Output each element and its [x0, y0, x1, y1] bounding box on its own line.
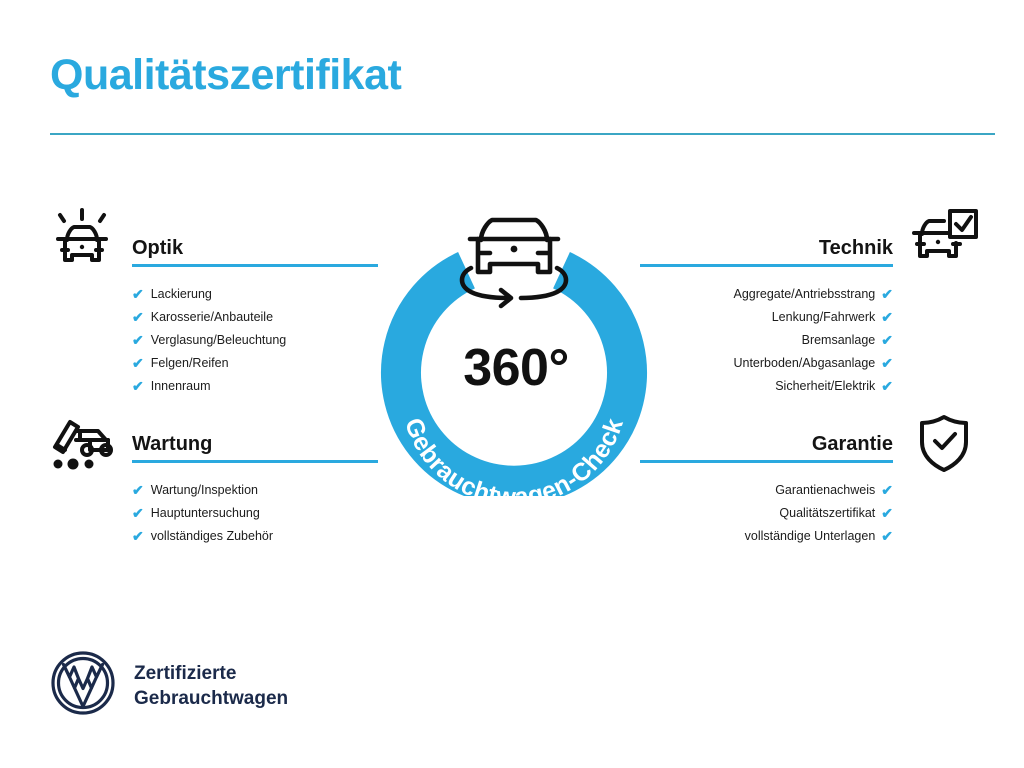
footer-line-2: Gebrauchtwagen — [134, 686, 288, 711]
list-item: ✔Hauptuntersuchung — [132, 502, 378, 525]
list-item-label: Wartung/Inspektion — [151, 479, 258, 502]
badge-360-gebrauchtwagen-check: Gebrauchtwagen-Check 360° — [378, 196, 650, 496]
check-icon: ✔ — [132, 310, 144, 324]
section-heading-optik: Optik — [132, 238, 378, 264]
checklist-wartung: ✔Wartung/Inspektion ✔Hauptuntersuchung ✔… — [132, 479, 378, 548]
footer-text: Zertifizierte Gebrauchtwagen — [134, 661, 288, 711]
footer-line-1: Zertifizierte — [134, 661, 288, 686]
list-item: ✔Karosserie/Anbauteile — [132, 306, 378, 329]
list-item: ✔Felgen/Reifen — [132, 352, 378, 375]
list-item-label: Innenraum — [151, 375, 211, 398]
checklist-optik: ✔Lackierung ✔Karosserie/Anbauteile ✔Verg… — [132, 283, 378, 398]
check-icon: ✔ — [132, 483, 144, 497]
vw-logo — [50, 650, 116, 721]
shield-check-icon — [917, 412, 971, 479]
certificate-page: Qualitätszertifikat — [0, 0, 1024, 768]
list-item: vollständige Unterlagen✔ — [640, 525, 893, 548]
list-item: Bremsanlage✔ — [640, 329, 893, 352]
check-icon: ✔ — [132, 333, 144, 347]
checklist-garantie: Garantienachweis✔ Qualitätszertifikat✔ v… — [640, 479, 893, 548]
check-icon: ✔ — [881, 310, 893, 324]
list-item-label: Garantienachweis — [775, 479, 875, 502]
list-item-label: Sicherheit/Elektrik — [775, 375, 875, 398]
list-item: ✔Wartung/Inspektion — [132, 479, 378, 502]
section-technik: Technik Aggregate/Antriebsstrang✔ Lenkun… — [640, 238, 893, 398]
list-item-label: Unterboden/Abgasanlage — [733, 352, 875, 375]
list-item-label: vollständiges Zubehör — [151, 525, 273, 548]
list-item: ✔Verglasung/Beleuchtung — [132, 329, 378, 352]
check-icon: ✔ — [881, 379, 893, 393]
check-icon: ✔ — [881, 287, 893, 301]
check-icon: ✔ — [881, 506, 893, 520]
car-shine-icon — [46, 202, 118, 275]
check-icon: ✔ — [881, 483, 893, 497]
list-item: ✔Innenraum — [132, 375, 378, 398]
list-item: Unterboden/Abgasanlage✔ — [640, 352, 893, 375]
section-heading-technik: Technik — [640, 238, 893, 264]
checklist-technik: Aggregate/Antriebsstrang✔ Lenkung/Fahrwe… — [640, 283, 893, 398]
list-item-label: vollständige Unterlagen — [745, 525, 876, 548]
page-title: Qualitätszertifikat — [50, 52, 401, 99]
list-item-label: Felgen/Reifen — [151, 352, 229, 375]
list-item-label: Karosserie/Anbauteile — [151, 306, 273, 329]
list-item-label: Verglasung/Beleuchtung — [151, 329, 287, 352]
section-optik: Optik ✔Lackierung ✔Karosserie/Anbauteile… — [132, 238, 378, 398]
section-divider-optik — [132, 264, 378, 267]
list-item-label: Qualitätszertifikat — [779, 502, 875, 525]
section-divider-garantie — [640, 460, 893, 463]
section-wartung: Wartung ✔Wartung/Inspektion ✔Hauptunters… — [132, 434, 378, 548]
check-icon: ✔ — [132, 529, 144, 543]
list-item: Lenkung/Fahrwerk✔ — [640, 306, 893, 329]
list-item: ✔vollständiges Zubehör — [132, 525, 378, 548]
list-item: Qualitätszertifikat✔ — [640, 502, 893, 525]
check-icon: ✔ — [881, 333, 893, 347]
list-item-label: Aggregate/Antriebsstrang — [734, 283, 876, 306]
list-item: Aggregate/Antriebsstrang✔ — [640, 283, 893, 306]
footer-brand: Zertifizierte Gebrauchtwagen — [50, 650, 288, 721]
check-icon: ✔ — [132, 287, 144, 301]
section-divider-wartung — [132, 460, 378, 463]
check-icon: ✔ — [881, 529, 893, 543]
car-service-icon — [46, 412, 118, 477]
list-item: ✔Lackierung — [132, 283, 378, 306]
list-item: Garantienachweis✔ — [640, 479, 893, 502]
section-divider-technik — [640, 264, 893, 267]
section-garantie: Garantie Garantienachweis✔ Qualitätszert… — [640, 434, 893, 548]
check-icon: ✔ — [132, 506, 144, 520]
section-heading-garantie: Garantie — [640, 434, 893, 460]
list-item-label: Lenkung/Fahrwerk — [772, 306, 876, 329]
list-item-label: Lackierung — [151, 283, 212, 306]
check-icon: ✔ — [132, 356, 144, 370]
check-icon: ✔ — [881, 356, 893, 370]
list-item: Sicherheit/Elektrik✔ — [640, 375, 893, 398]
car-checkbox-icon — [906, 206, 980, 273]
header-divider — [50, 133, 995, 135]
car-front-rotate-icon — [462, 220, 566, 306]
check-icon: ✔ — [132, 379, 144, 393]
list-item-label: Bremsanlage — [802, 329, 876, 352]
list-item-label: Hauptuntersuchung — [151, 502, 260, 525]
section-heading-wartung: Wartung — [132, 434, 378, 460]
